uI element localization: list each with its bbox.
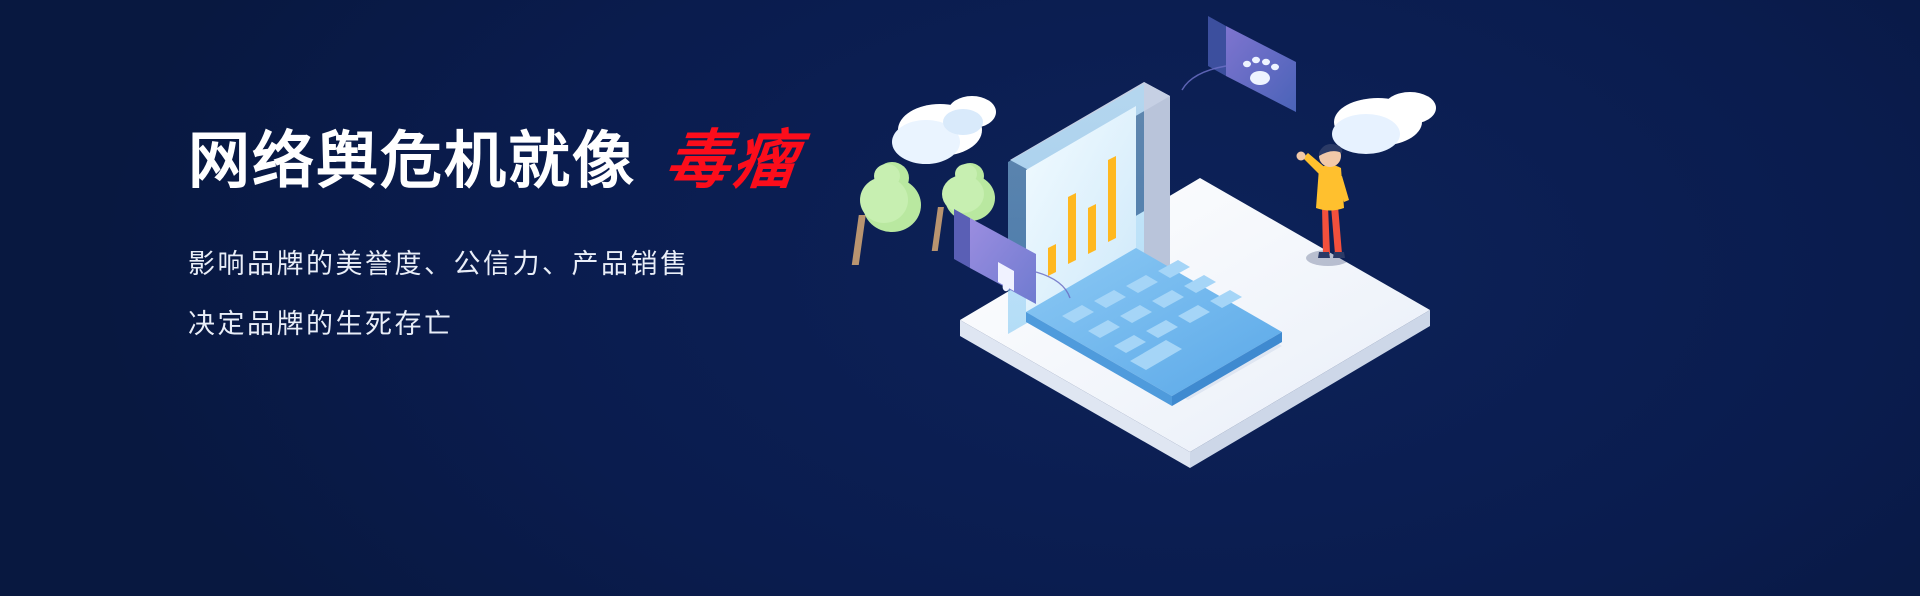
subtitle-line-2: 决定品牌的生死存亡 [188,311,928,338]
tree-large-icon [852,162,921,265]
headline-accent-text: 毒瘤 [663,128,804,192]
cloud-right-icon [1332,92,1436,154]
headline: 网络舆危机就像 毒瘤 [188,128,928,193]
illustration [830,0,1510,596]
cloud-left-icon [892,96,996,164]
banner-copy-block: 网络舆危机就像 毒瘤 影响品牌的美誉度、公信力、产品销售 决定品牌的生死存亡 [188,128,928,338]
hero-banner: 网络舆危机就像 毒瘤 影响品牌的美誉度、公信力、产品销售 决定品牌的生死存亡 [0,0,1920,596]
subtitle-line-1: 影响品牌的美誉度、公信力、产品销售 [188,251,928,278]
headline-main-text: 网络舆危机就像 [188,131,636,193]
paw-print-panel [1208,16,1296,112]
